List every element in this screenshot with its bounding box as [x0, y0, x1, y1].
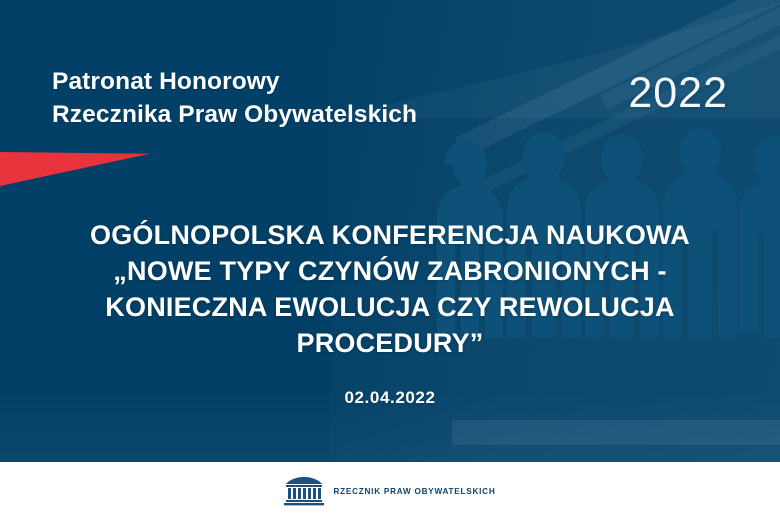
banner-background: Patronat Honorowy Rzecznika Praw Obywate…	[0, 0, 780, 462]
poster-canvas: Patronat Honorowy Rzecznika Praw Obywate…	[0, 0, 780, 520]
conference-title: OGÓLNOPOLSKA KONFERENCJA NAUKOWA „NOWE T…	[40, 218, 740, 362]
footer-logo-group: RZECZNIK PRAW OBYWATELSKICH	[284, 476, 495, 506]
year-label: 2022	[628, 72, 728, 115]
classical-building-icon	[284, 476, 324, 506]
footer-bar: RZECZNIK PRAW OBYWATELSKICH	[0, 462, 780, 520]
conference-date: 02.04.2022	[40, 388, 740, 408]
bottom-accent-bar	[452, 420, 780, 445]
red-triangle-icon	[0, 152, 150, 186]
footer-logo-text: RZECZNIK PRAW OBYWATELSKICH	[333, 487, 495, 496]
patronage-heading: Patronat Honorowy Rzecznika Praw Obywate…	[52, 66, 417, 131]
